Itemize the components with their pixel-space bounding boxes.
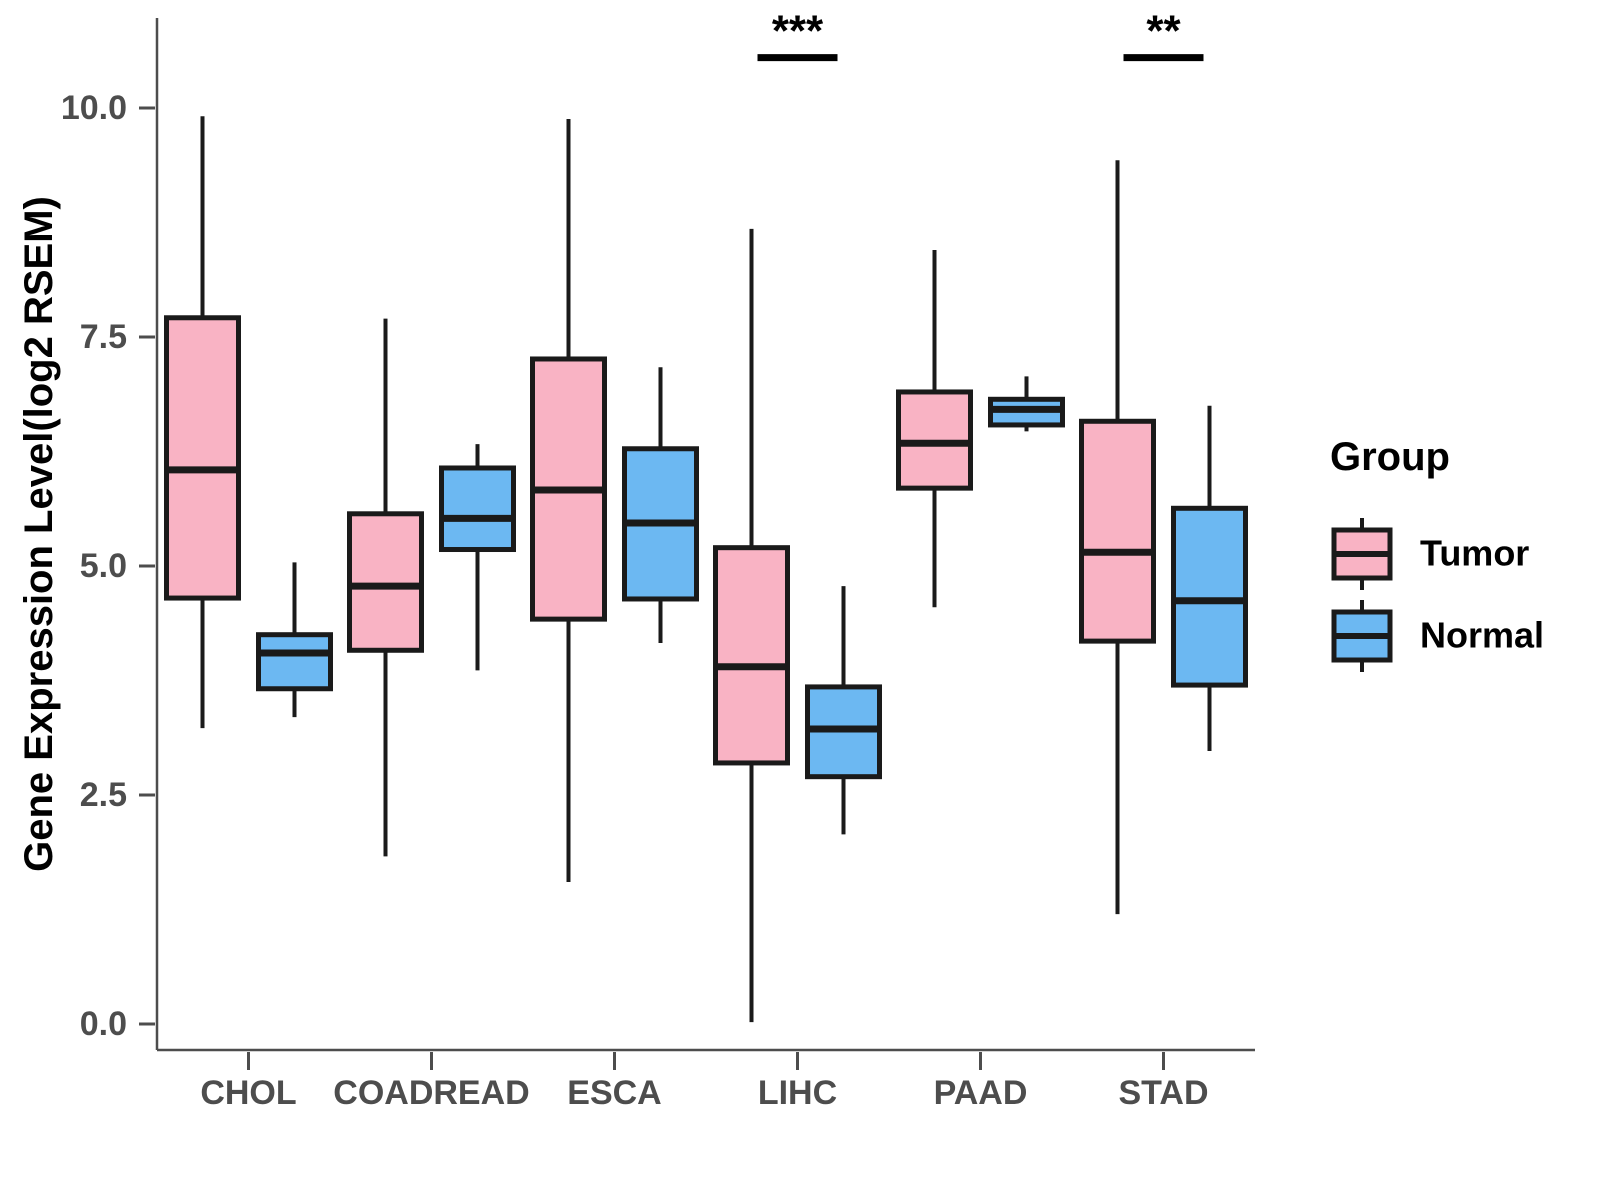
y-tick-label: 5.0 <box>80 547 127 585</box>
box-rect <box>1082 421 1154 641</box>
x-tick-label: STAD <box>1118 1074 1208 1112</box>
y-axis: 0.02.55.07.510.0 <box>61 18 157 1050</box>
y-tick-label: 2.5 <box>80 776 127 814</box>
y-tick-label: 7.5 <box>80 318 127 356</box>
legend-label: Normal <box>1420 615 1544 656</box>
x-tick-label: CHOL <box>200 1074 296 1112</box>
box-rect <box>259 635 331 689</box>
x-tick-label: PAAD <box>934 1074 1028 1112</box>
legend-title: Group <box>1330 435 1450 479</box>
box-rect <box>716 548 788 763</box>
y-tick-label: 0.0 <box>80 1005 127 1043</box>
box-rect <box>167 318 239 598</box>
box-rect <box>350 514 422 650</box>
significance-label: *** <box>772 7 824 56</box>
legend: GroupTumorNormal <box>1330 435 1544 672</box>
boxplot-svg: 0.02.55.07.510.0 CHOLCOADREADESCALIHCPAA… <box>0 0 1600 1200</box>
legend-item-tumor[interactable]: Tumor <box>1333 518 1529 590</box>
legend-label: Tumor <box>1420 533 1529 574</box>
x-tick-label: COADREAD <box>333 1074 529 1112</box>
y-tick-label: 10.0 <box>61 89 127 127</box>
box-rect <box>1174 508 1246 685</box>
x-tick-label: ESCA <box>567 1074 661 1112</box>
y-axis-title: Gene Expression Level(log2 RSEM) <box>17 196 61 872</box>
x-axis: CHOLCOADREADESCALIHCPAADSTAD <box>157 1050 1255 1112</box>
x-tick-label: LIHC <box>758 1074 837 1112</box>
box-rect <box>442 468 514 550</box>
significance-label: ** <box>1146 7 1181 56</box>
boxplot-figure: 0.02.55.07.510.0 CHOLCOADREADESCALIHCPAA… <box>0 0 1600 1200</box>
legend-item-normal[interactable]: Normal <box>1333 600 1544 672</box>
